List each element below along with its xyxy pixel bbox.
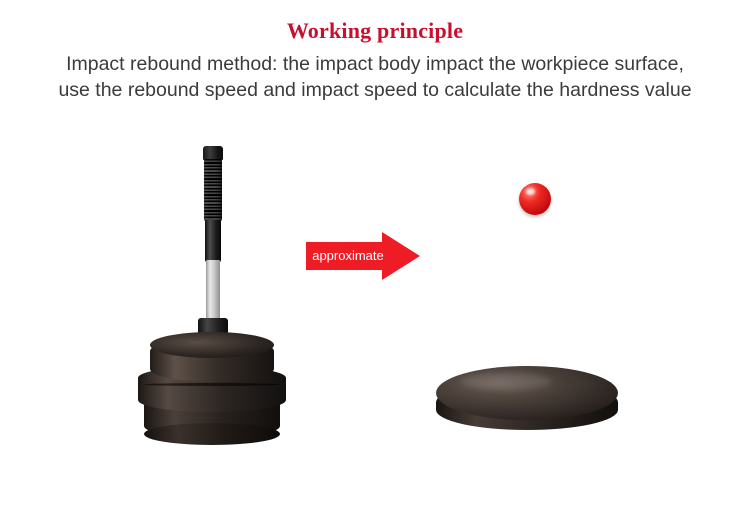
arrow-head-icon bbox=[382, 232, 420, 280]
device-base-seam bbox=[144, 383, 280, 386]
ball-highlight bbox=[526, 188, 535, 195]
approximate-arrow: approximate bbox=[306, 232, 422, 284]
device-upper-barrel bbox=[205, 220, 221, 262]
page-subtitle: Impact rebound method: the impact body i… bbox=[50, 51, 700, 103]
workpiece-disc-gloss bbox=[460, 373, 552, 390]
workpiece-disc bbox=[434, 366, 620, 438]
device-top-cap bbox=[203, 146, 223, 160]
device-knurled-grip bbox=[204, 159, 222, 221]
hardness-tester-device bbox=[130, 140, 310, 450]
page-title: Working principle bbox=[0, 18, 750, 44]
arrow-label: approximate bbox=[310, 248, 386, 264]
impact-body-ball bbox=[519, 183, 551, 215]
device-base-top-face bbox=[150, 332, 274, 358]
